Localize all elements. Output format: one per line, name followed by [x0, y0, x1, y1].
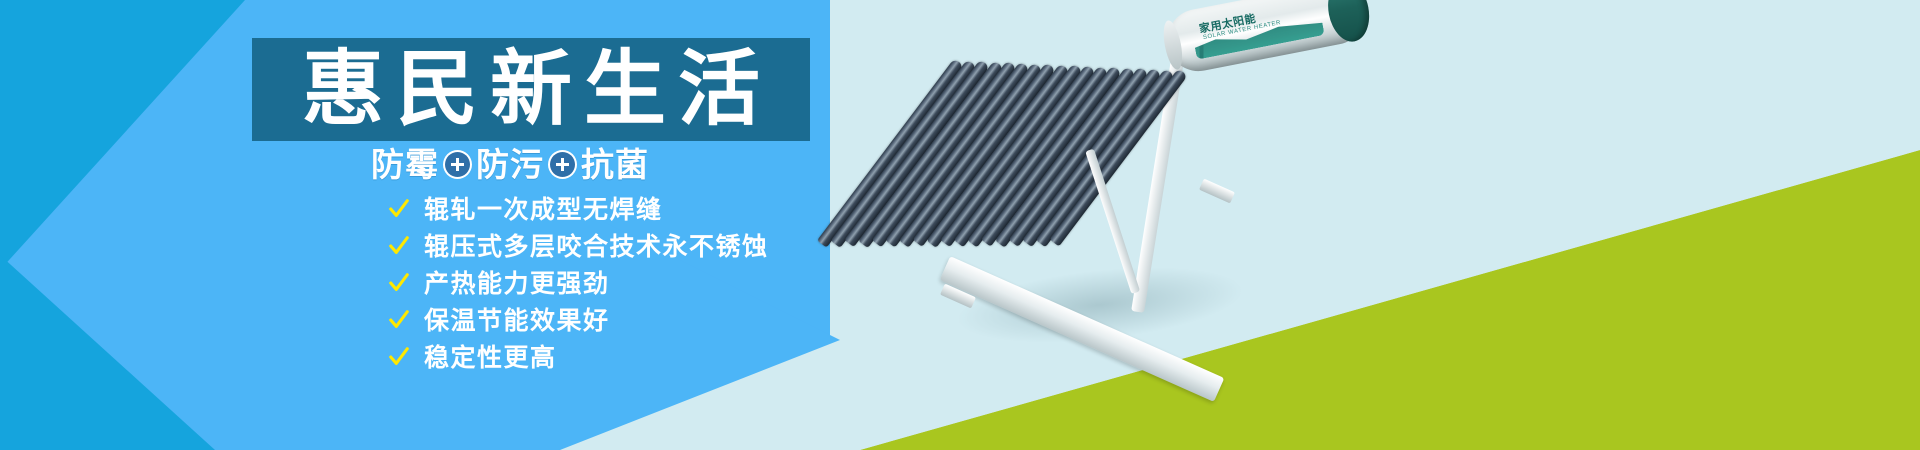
subtitle-part-1: 防霉	[371, 148, 439, 181]
check-mark-icon	[388, 309, 410, 331]
headline-box: 惠民新生活	[252, 38, 810, 141]
feature-label: 辊轧一次成型无焊缝	[424, 197, 663, 222]
check-mark-icon	[388, 198, 410, 220]
subtitle-row: 防霉 防污 抗菌	[375, 144, 645, 184]
check-mark-icon	[388, 235, 410, 257]
feature-label: 辊压式多层咬合技术永不锈蚀	[424, 234, 769, 259]
feature-label: 稳定性更高	[424, 345, 557, 370]
list-item: 辊压式多层咬合技术永不锈蚀	[388, 231, 769, 261]
check-mark-icon	[388, 346, 410, 368]
list-item: 辊轧一次成型无焊缝	[388, 194, 769, 224]
plus-circle-icon	[445, 152, 470, 177]
list-item: 保温节能效果好	[388, 305, 769, 335]
page-title: 惠民新生活	[290, 49, 772, 131]
feature-label: 保温节能效果好	[424, 308, 610, 333]
feature-list: 辊轧一次成型无焊缝 辊压式多层咬合技术永不锈蚀 产热能力更强劲 保温节能效果好	[388, 194, 769, 372]
list-item: 稳定性更高	[388, 342, 769, 372]
product-image-solar-water-heater: 家用太阳能 SOLAR WATER HEATER	[935, 0, 1335, 360]
check-mark-icon	[388, 272, 410, 294]
list-item: 产热能力更强劲	[388, 268, 769, 298]
plus-circle-icon	[550, 152, 575, 177]
subtitle-part-3: 抗菌	[581, 148, 649, 181]
subtitle-part-2: 防污	[476, 148, 544, 181]
promo-banner: 惠民新生活 防霉 防污 抗菌 辊轧一次成型无焊缝 辊压式多层咬合技术永不锈蚀 产…	[0, 0, 1920, 450]
feature-label: 产热能力更强劲	[424, 271, 610, 296]
